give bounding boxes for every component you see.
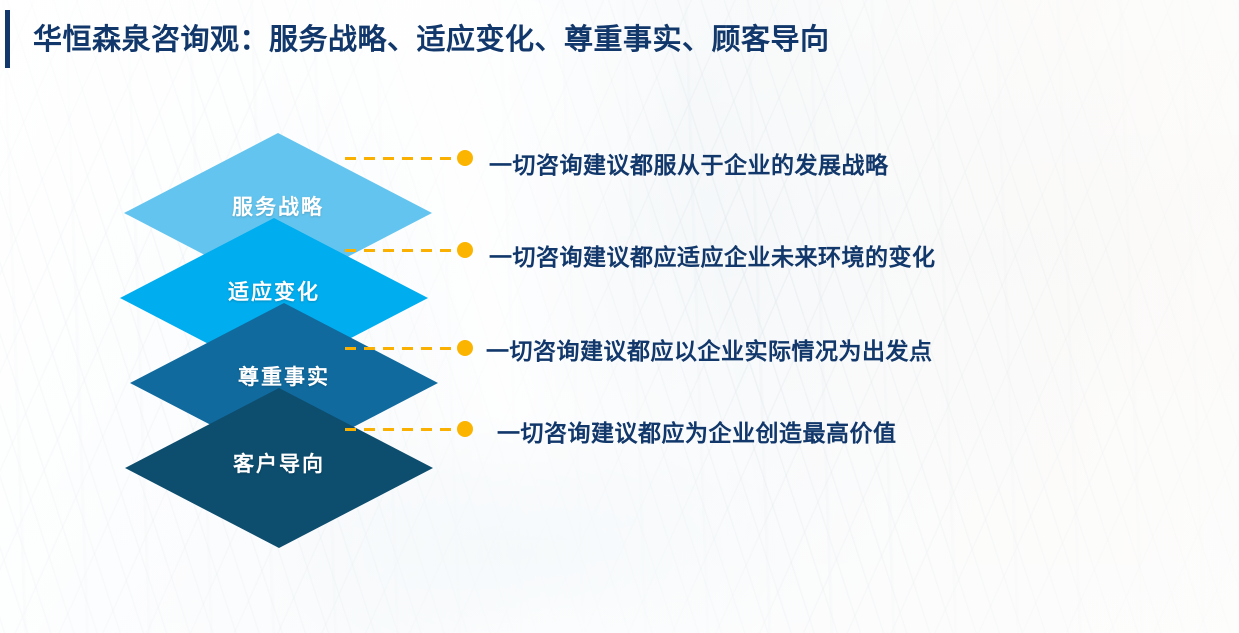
connector-dot-3 [457, 340, 473, 356]
connector-dot-2 [457, 242, 473, 258]
diamond-stack-diagram: 服务战略 一切咨询建议都服从于企业的发展战略 适应变化 一切咨询建议都应适应企业… [0, 0, 1239, 633]
connector-1 [345, 150, 473, 166]
dashed-line-4 [345, 428, 459, 431]
slide-canvas: 华恒森泉咨询观：服务战略、适应变化、尊重事实、顾客导向 服务战略 一切咨询建议都… [0, 0, 1239, 633]
layer-description-3: 一切咨询建议都应以企业实际情况为出发点 [486, 332, 933, 366]
layer-description-4: 一切咨询建议都应为企业创造最高价值 [497, 414, 897, 448]
layer-description-1: 一切咨询建议都服从于企业的发展战略 [489, 146, 889, 180]
layer-description-2: 一切咨询建议都应适应企业未来环境的变化 [489, 238, 936, 272]
connector-2 [345, 242, 473, 258]
dashed-line-1 [345, 157, 459, 160]
dashed-line-3 [345, 347, 459, 350]
connector-4 [345, 421, 473, 437]
connector-dot-4 [457, 421, 473, 437]
connector-3 [345, 340, 473, 356]
diamond-shape-4[interactable] [125, 388, 433, 548]
connector-dot-1 [457, 150, 473, 166]
dashed-line-2 [345, 249, 459, 252]
